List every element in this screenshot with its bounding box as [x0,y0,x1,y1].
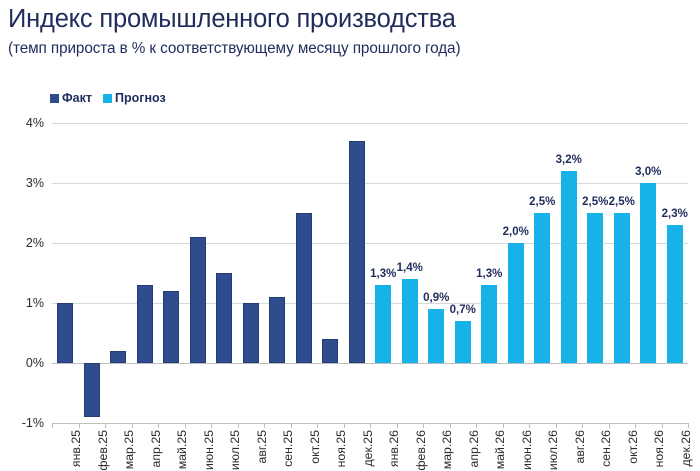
bar-fact-мар.25[interactable] [110,351,126,363]
x-axis-tick [688,423,689,428]
x-axis-tick [105,423,106,428]
bar-fact-май.25[interactable] [163,291,179,363]
bar-forecast-июн.26[interactable] [508,243,524,363]
x-axis-tick-label: фев.25 [97,430,109,471]
bar-fact-сен.25[interactable] [269,297,285,363]
bar-forecast-сен.26[interactable] [587,213,603,363]
bar-fact-ноя.25[interactable] [322,339,338,363]
x-axis-tick-label: янв.25 [70,430,82,467]
bar-value-label: 1,3% [370,269,396,281]
gridline [52,183,688,184]
x-axis-tick-label: июн.26 [521,430,533,470]
x-axis-tick [556,423,557,428]
bar-forecast-июл.26[interactable] [534,213,550,363]
y-axis-tick-label: 0% [0,357,44,370]
y-axis-tick-label: 1% [0,297,44,310]
x-axis-tick [635,423,636,428]
bar-fact-дек.25[interactable] [349,141,365,363]
bar-fact-фев.25[interactable] [84,363,100,417]
x-axis-tick [238,423,239,428]
x-axis-tick [476,423,477,428]
x-axis-tick-label: янв.26 [388,430,400,467]
bar-value-label: 3,0% [635,167,661,179]
bar-forecast-апр.26[interactable] [455,321,471,363]
x-axis-tick-label: окт.25 [309,430,321,464]
x-axis-tick [52,423,53,428]
bar-fact-авг.25[interactable] [243,303,259,363]
bar-value-label: 1,4% [397,263,423,275]
x-axis-tick-label: авг.26 [574,430,586,463]
y-axis-labels: -1%0%1%2%3%4% [0,123,44,423]
gridline [52,123,688,124]
x-axis-tick [211,423,212,428]
x-axis-tick [132,423,133,428]
x-axis-tick [662,423,663,428]
x-axis-tick-label: апр.26 [468,430,480,467]
x-axis-tick [503,423,504,428]
x-axis-tick [291,423,292,428]
bar-value-label: 1,3% [476,269,502,281]
x-axis-tick [423,423,424,428]
x-axis-tick [370,423,371,428]
x-axis-tick-label: ноя.25 [335,430,347,467]
y-axis-tick-label: 2% [0,237,44,250]
x-axis-tick-label: мар.25 [123,430,135,469]
chart-plot: -1%0%1%2%3%4% 1,3%1,4%0,9%0,7%1,3%2,0%2,… [0,0,700,467]
y-axis-tick-label: 4% [0,117,44,130]
x-axis-tick [264,423,265,428]
x-axis-tick [344,423,345,428]
x-axis-tick-label: май.25 [176,430,188,469]
bar-forecast-фев.26[interactable] [402,279,418,363]
gridline [52,363,688,364]
bar-fact-апр.25[interactable] [137,285,153,363]
x-axis-tick-label: дек.26 [680,430,692,467]
y-axis-tick-label: -1% [0,417,44,430]
bar-forecast-ноя.26[interactable] [640,183,656,363]
x-axis-tick-label: авг.25 [256,430,268,463]
x-axis-tick [79,423,80,428]
bar-value-label: 2,3% [662,209,688,221]
x-axis-tick-label: май.26 [494,430,506,469]
bar-forecast-май.26[interactable] [481,285,497,363]
x-axis-tick [609,423,610,428]
bar-value-label: 2,5% [582,197,608,209]
bar-forecast-янв.26[interactable] [375,285,391,363]
x-axis-tick-label: ноя.26 [653,430,665,467]
x-axis-tick-label: дек.25 [362,430,374,467]
x-axis-tick [450,423,451,428]
x-axis-tick-label: сен.25 [282,430,294,467]
bar-value-label: 2,5% [529,197,555,209]
x-axis-tick [158,423,159,428]
x-axis-tick [397,423,398,428]
bar-forecast-авг.26[interactable] [561,171,577,363]
x-axis-tick [317,423,318,428]
x-axis-tick-label: июл.26 [547,430,559,470]
bar-value-label: 2,5% [609,197,635,209]
bar-value-label: 0,7% [450,305,476,317]
bar-value-label: 3,2% [556,155,582,167]
bar-fact-июн.25[interactable] [190,237,206,363]
y-axis-tick-label: 3% [0,177,44,190]
bar-forecast-окт.26[interactable] [614,213,630,363]
bar-forecast-дек.26[interactable] [667,225,683,363]
x-axis-tick-label: июн.25 [203,430,215,470]
bar-fact-июл.25[interactable] [216,273,232,363]
bar-value-label: 2,0% [503,227,529,239]
x-axis-tick-label: мар.26 [441,430,453,469]
x-axis-tick [185,423,186,428]
x-axis-tick [582,423,583,428]
plot-area: 1,3%1,4%0,9%0,7%1,3%2,0%2,5%3,2%2,5%2,5%… [52,123,688,423]
bar-fact-янв.25[interactable] [57,303,73,363]
x-axis-tick-label: июл.25 [229,430,241,470]
bar-forecast-мар.26[interactable] [428,309,444,363]
x-axis-tick-label: окт.26 [627,430,639,464]
x-axis-tick-label: фев.26 [415,430,427,471]
x-axis-tick-label: апр.25 [150,430,162,467]
x-axis-tick-label: сен.26 [600,430,612,467]
x-axis-tick [529,423,530,428]
bar-value-label: 0,9% [423,293,449,305]
bar-fact-окт.25[interactable] [296,213,312,363]
